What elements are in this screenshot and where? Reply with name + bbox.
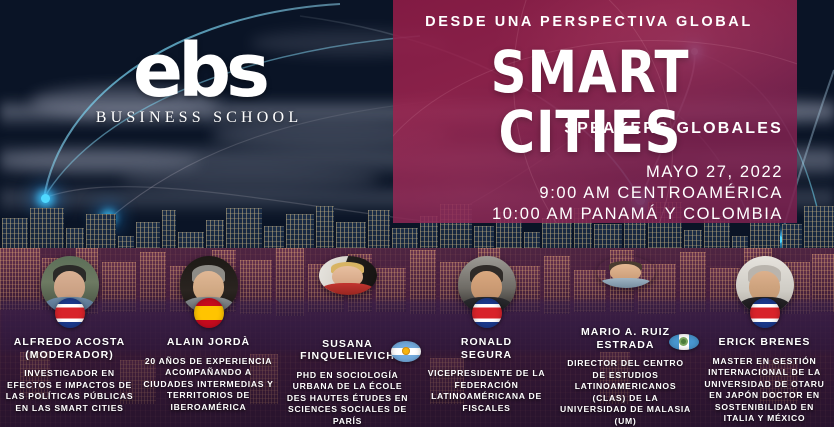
speaker-bio: MASTER EN GESTIÓN INTERNACIONAL DE LA UN… [699, 356, 830, 425]
costa-rica-flag [750, 298, 780, 328]
event-date: MAYO 27, 2022 [492, 162, 783, 183]
event-time-1: 9:00 AM CENTROAMÉRICA [492, 183, 783, 204]
speaker-name: MARIO A. RUIZ ESTRADA [581, 326, 670, 351]
title-panel: DESDE UNA PERSPECTIVA GLOBAL SMART CITIE… [393, 0, 797, 223]
speaker-card: RONALD SEGURA VICEPRESIDENTE DE LA FEDER… [417, 252, 556, 427]
speaker-bio: 20 AÑOS DE EXPERIENCIA ACOMPAÑANDO A CIU… [143, 356, 274, 414]
page-title: SMART CITIES [421, 42, 760, 162]
costa-rica-flag [472, 298, 502, 328]
argentina-flag [391, 341, 421, 361]
speaker-name: RONALD SEGURA [461, 336, 512, 361]
event-poster: ebs BUSINESS SCHOOL DESDE UNA PERSPECTIV… [0, 0, 834, 427]
speakers-row: ALFREDO ACOSTA (MODERADOR) INVESTIGADOR … [0, 252, 834, 427]
speaker-bio: PHD EN SOCIOLOGÍA URBANA DE LA ÉCOLE DES… [282, 370, 413, 427]
speaker-bio: DIRECTOR DEL CENTRO DE ESTUDIOS LATINOAM… [560, 358, 691, 427]
panel-subheadline: SPEAKERS GLOBALES [564, 120, 783, 138]
speaker-card: SUSANA FINQUELIEVICH PHD EN SOCIOLOGÍA U… [278, 252, 417, 427]
logo-subtitle: BUSINESS SCHOOL [84, 109, 314, 127]
speaker-bio: INVESTIGADOR EN EFECTOS E IMPACTOS DE LA… [4, 368, 135, 414]
speaker-name: SUSANA FINQUELIEVICH [300, 338, 395, 363]
spain-flag [194, 298, 224, 328]
costa-rica-flag [55, 298, 85, 328]
event-schedule: MAYO 27, 2022 9:00 AM CENTROAMÉRICA 10:0… [492, 162, 783, 223]
speaker-card: ALFREDO ACOSTA (MODERADOR) INVESTIGADOR … [0, 252, 139, 427]
speaker-card: MARIO A. RUIZ ESTRADA DIRECTOR DEL CENTR… [556, 252, 695, 427]
ebs-logo: ebs BUSINESS SCHOOL [84, 36, 314, 127]
logo-wordmark: ebs [84, 36, 314, 107]
event-time-2: 10:00 AM PANAMÁ Y COLOMBIA [492, 204, 783, 223]
speaker-photo-mario-ruiz-estrada [597, 256, 655, 288]
speaker-bio: VICEPRESIDENTE DE LA FEDERACIÓN LATINOAM… [421, 368, 552, 414]
speaker-photo-susana-finquelievich [319, 256, 377, 295]
speaker-name: ALFREDO ACOSTA (MODERADOR) [14, 336, 126, 361]
panel-kicker: DESDE UNA PERSPECTIVA GLOBAL [393, 14, 785, 30]
speaker-name: ERICK BRENES [719, 336, 811, 349]
guatemala-flag [669, 334, 699, 350]
speaker-card: ERICK BRENES MASTER EN GESTIÓN INTERNACI… [695, 252, 834, 427]
speaker-card: ALAIN JORDÀ 20 AÑOS DE EXPERIENCIA ACOMP… [139, 252, 278, 427]
speaker-name: ALAIN JORDÀ [167, 336, 250, 349]
